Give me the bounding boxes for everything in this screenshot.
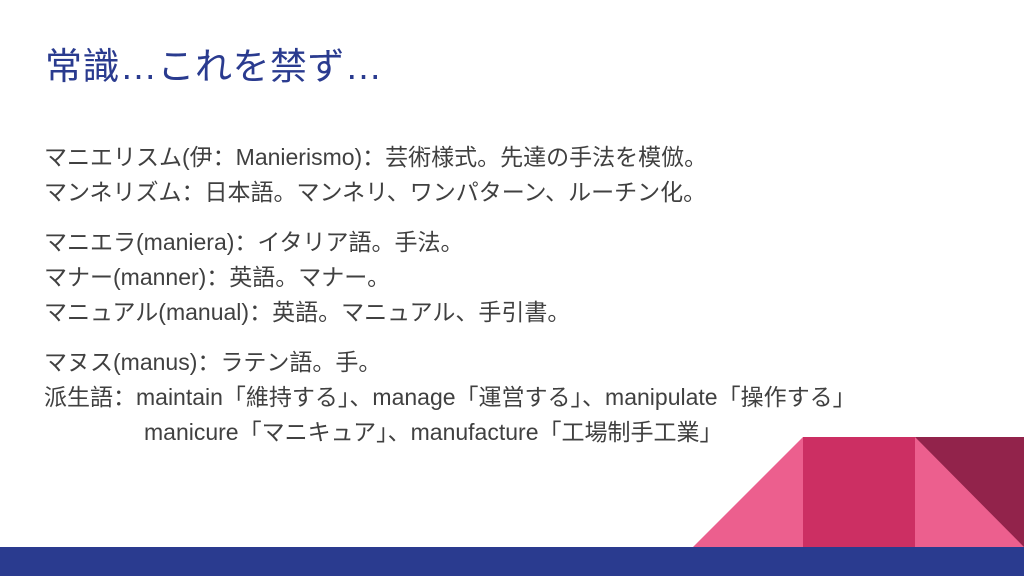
body-line: マニュアル(manual)：英語。マニュアル、手引書。 <box>44 295 984 330</box>
bottom-navy-bar <box>0 547 1024 576</box>
body-line: マナー(manner)：英語。マナー。 <box>44 260 984 295</box>
paragraph-block-3: マヌス(manus)：ラテン語。手。 派生語：maintain「維持する」、ma… <box>44 345 984 450</box>
pink-triangle-left <box>693 437 803 547</box>
slide: 常識…これを禁ず… マニエリスム(伊：Manierismo)：芸術様式。先達の手… <box>0 0 1024 576</box>
crimson-rectangle <box>803 437 915 547</box>
body-line: マンネリズム：日本語。マンネリ、ワンパターン、ルーチン化。 <box>44 175 984 210</box>
paragraph-block-1: マニエリスム(伊：Manierismo)：芸術様式。先達の手法を模倣。 マンネリ… <box>44 140 984 210</box>
body-line: マニエリスム(伊：Manierismo)：芸術様式。先達の手法を模倣。 <box>44 140 984 175</box>
body-line: マニエラ(maniera)：イタリア語。手法。 <box>44 225 984 260</box>
body-line: 派生語：maintain「維持する」、manage「運営する」、manipula… <box>44 380 984 415</box>
paragraph-block-2: マニエラ(maniera)：イタリア語。手法。 マナー(manner)：英語。マ… <box>44 225 984 330</box>
maroon-rectangle <box>915 437 1024 547</box>
slide-body: マニエリスム(伊：Manierismo)：芸術様式。先達の手法を模倣。 マンネリ… <box>44 140 984 450</box>
body-line: manicure「マニキュア」、manufacture「工場制手工業」 <box>44 415 984 450</box>
slide-title: 常識…これを禁ず… <box>45 44 383 90</box>
body-line: マヌス(manus)：ラテン語。手。 <box>44 345 984 380</box>
pink-triangle-right <box>915 437 1024 547</box>
